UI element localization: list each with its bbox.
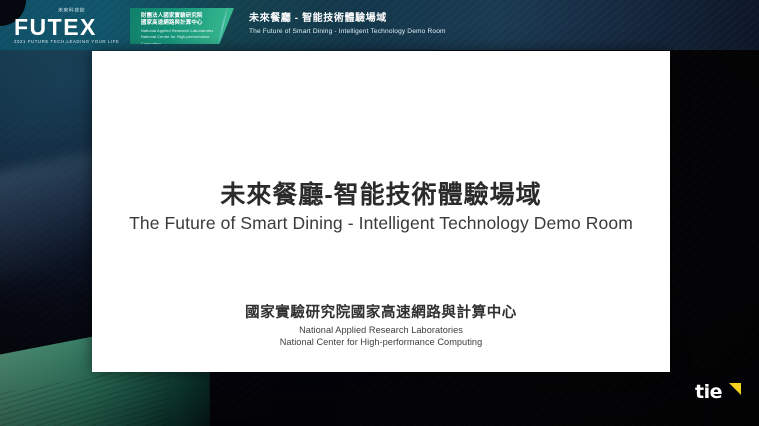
slide-title-en: The Future of Smart Dining - Intelligent…	[92, 211, 670, 235]
slide-content: 未來餐廳-智能技術體驗場域 The Future of Smart Dining…	[92, 51, 670, 372]
video-player-frame: 未來科技館 FUTEX 2021 FUTURE TECH,LEADING YOU…	[0, 0, 759, 426]
slide-org-en1: National Applied Research Laboratories	[92, 324, 670, 336]
presentation-slide: 未來餐廳-智能技術體驗場域 The Future of Smart Dining…	[92, 51, 670, 372]
slide-org-en2: National Center for High-performance Com…	[92, 336, 670, 348]
futex-logo-wordmark: FUTEX	[14, 15, 126, 39]
header-title-en: The Future of Smart Dining - Intelligent…	[249, 27, 446, 37]
tie-watermark-logo: tie	[695, 382, 741, 404]
tie-wordmark: tie	[695, 382, 722, 403]
slide-org-cn: 國家實驗研究院國家高速網路與計算中心	[92, 304, 670, 322]
slide-title-cn: 未來餐廳-智能技術體驗場域	[92, 180, 670, 210]
tie-flag-icon	[729, 383, 741, 395]
top-header-bar: 未來科技館 FUTEX 2021 FUTURE TECH,LEADING YOU…	[0, 0, 759, 50]
badge-cn-line1: 財團法人國家實驗研究院	[141, 13, 225, 20]
narl-nchc-badge-text: 財團法人國家實驗研究院 國家高速網路與計算中心 National Applied…	[141, 13, 225, 46]
futex-logo-cn-name: 未來科技館	[58, 8, 126, 14]
futex-logo[interactable]: 未來科技館 FUTEX 2021 FUTURE TECH,LEADING YOU…	[14, 8, 126, 45]
slide-title-group: 未來餐廳-智能技術體驗場域 The Future of Smart Dining…	[92, 180, 670, 235]
header-title-cn: 未來餐廳 - 智能技術體驗場域	[249, 12, 446, 25]
badge-en-line1: National Applied Research Laboratories	[141, 28, 225, 33]
header-title: 未來餐廳 - 智能技術體驗場域 The Future of Smart Dini…	[249, 12, 446, 37]
badge-cn-line2: 國家高速網路與計算中心	[141, 20, 225, 27]
futex-logo-tagline: 2021 FUTURE TECH,LEADING YOUR LIFE	[14, 39, 126, 45]
badge-en-line2: National Center for High-performance	[141, 34, 225, 39]
slide-organization-group: 國家實驗研究院國家高速網路與計算中心 National Applied Rese…	[92, 304, 670, 348]
